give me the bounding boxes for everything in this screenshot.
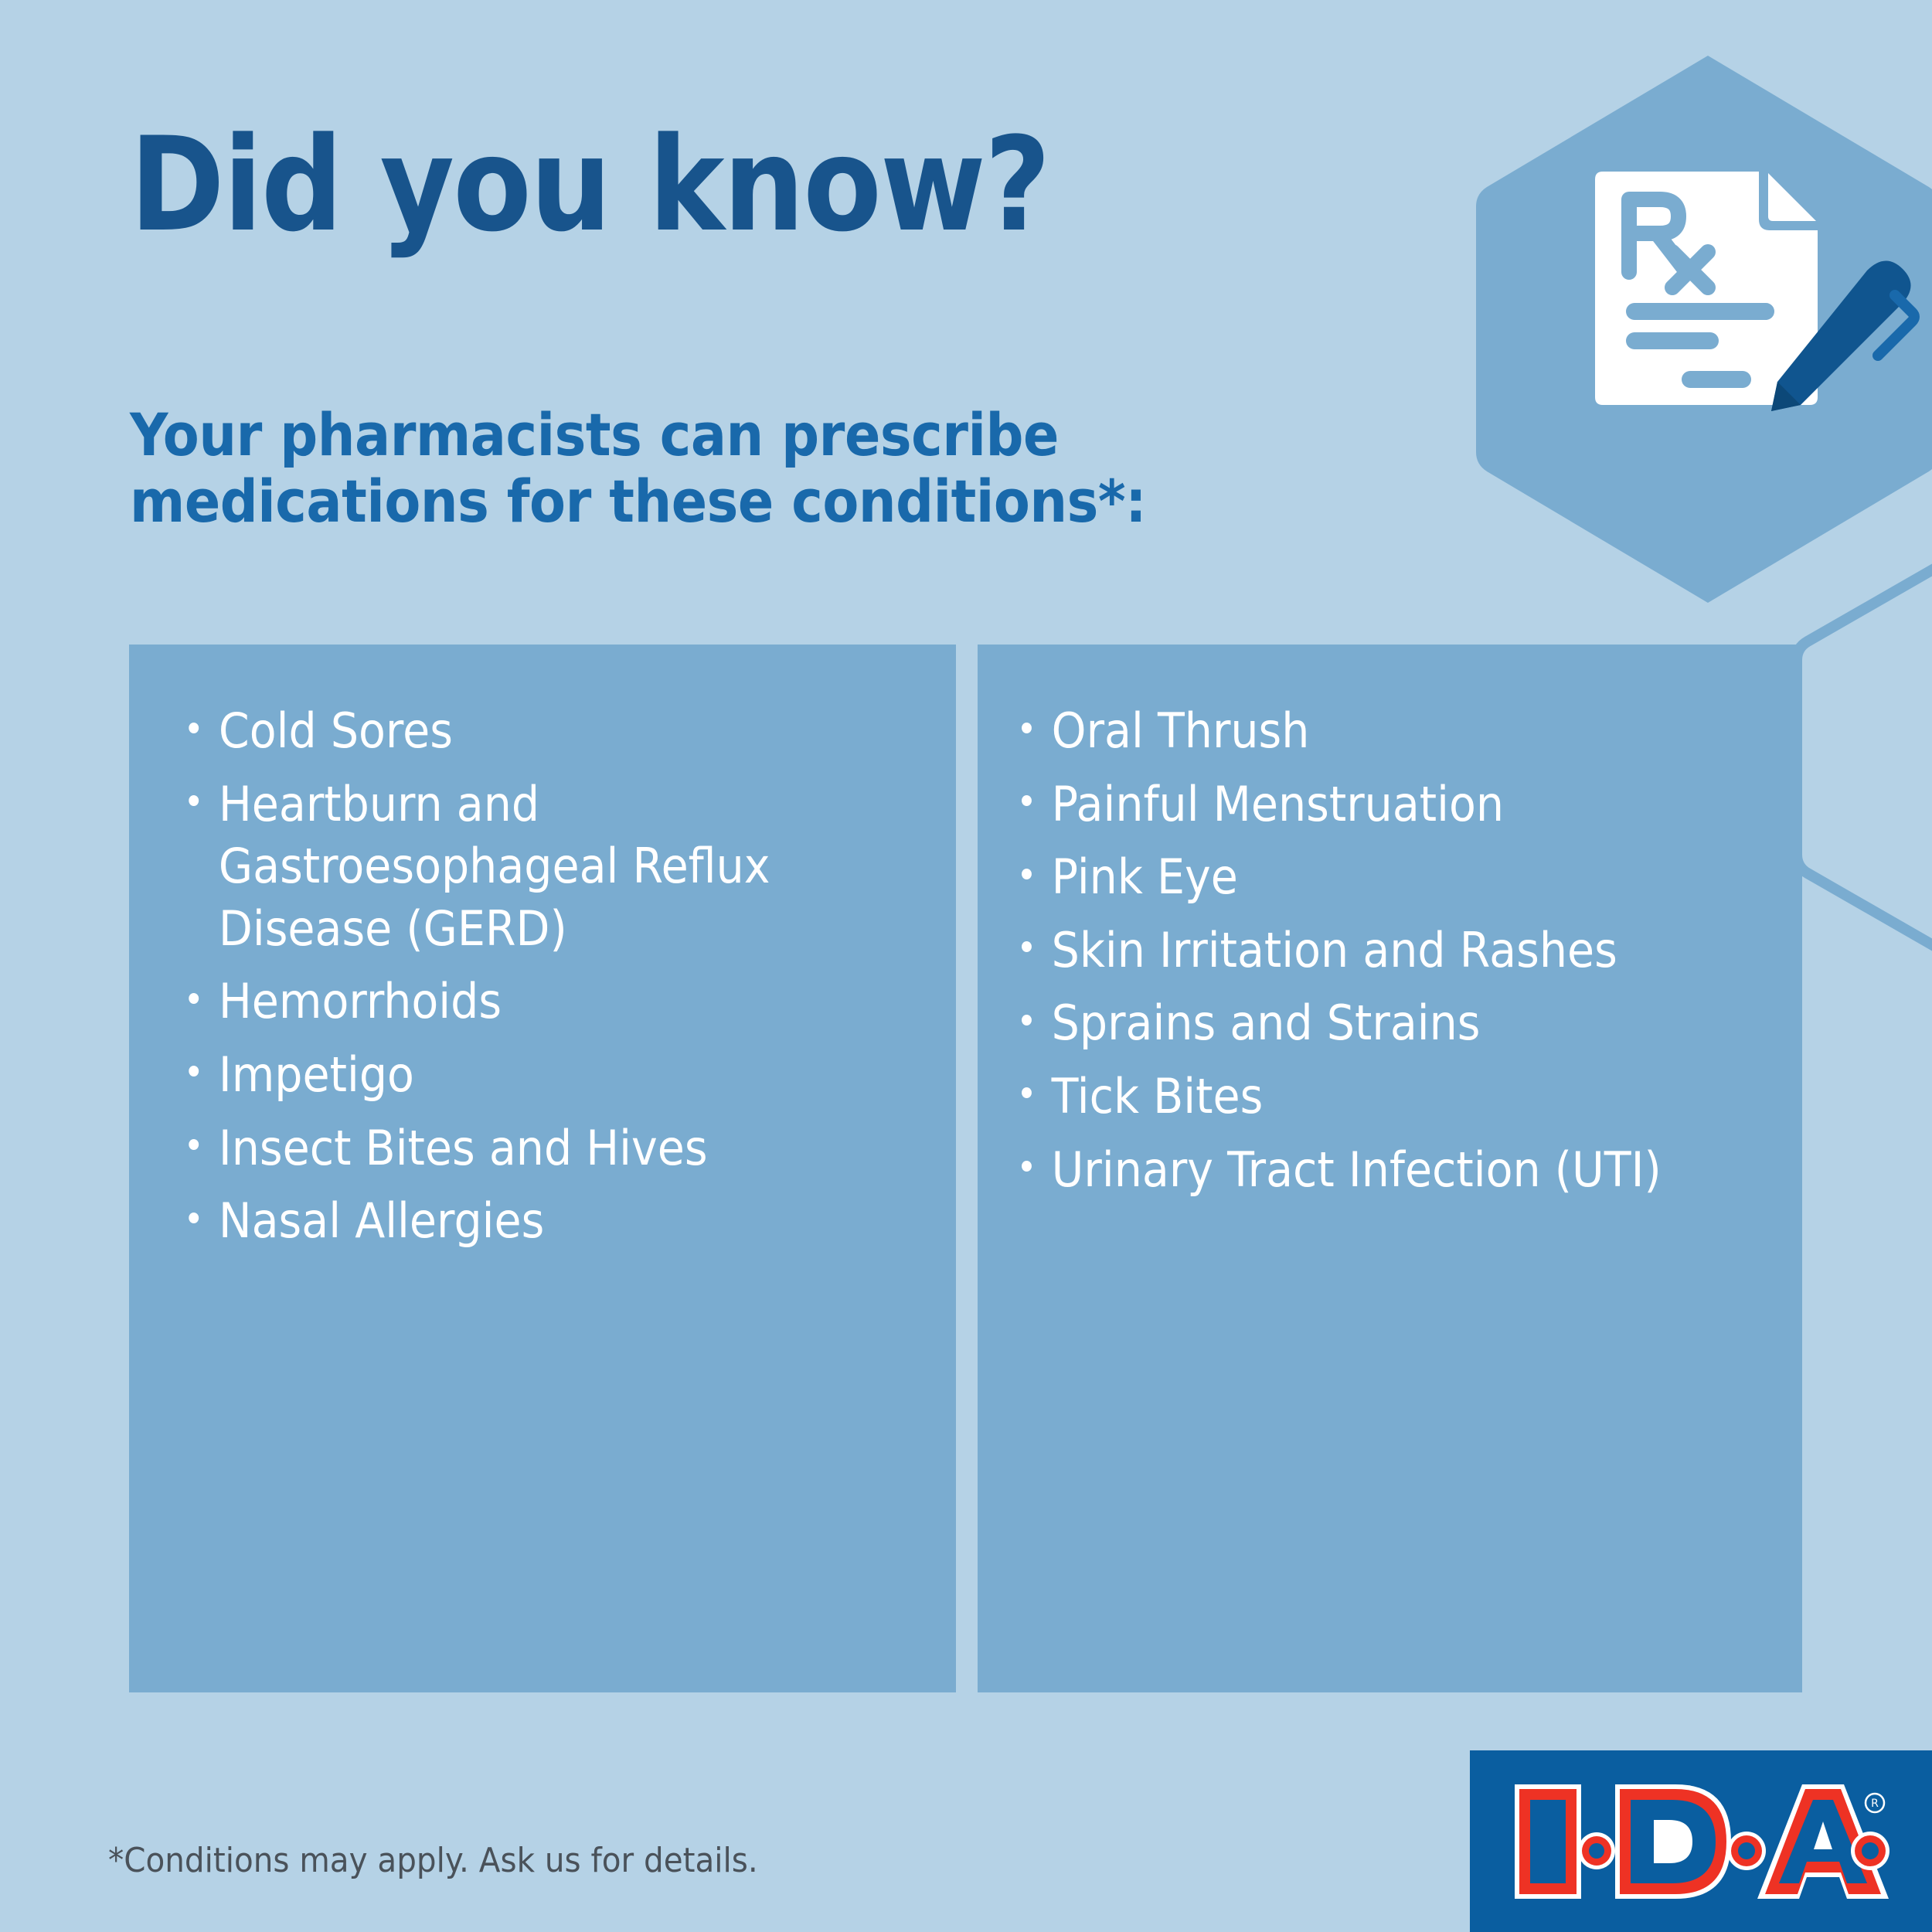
ida-logo-icon: R	[1507, 1780, 1893, 1903]
list-item-label: Urinary Tract Infection (UTI)	[1052, 1141, 1662, 1198]
list-item-label: Insect Bites and Hives	[219, 1120, 708, 1176]
bullet-icon	[1022, 1087, 1032, 1098]
page-subtitle: Your pharmacists can prescribe medicatio…	[130, 402, 1173, 535]
list-item: Heartburn and Gastroesophageal Reflux Di…	[186, 774, 862, 961]
conditions-panel-right: Oral Thrush Painful Menstruation Pink Ey…	[978, 645, 1802, 1692]
list-item-label: Impetigo	[219, 1046, 414, 1103]
list-item: Tick Bites	[1019, 1066, 1707, 1128]
bullet-icon	[189, 1139, 199, 1150]
list-item-label: Tick Bites	[1052, 1068, 1264, 1124]
footnote-text: *Conditions may apply. Ask us for detail…	[108, 1841, 758, 1880]
page-title: Did you know?	[130, 120, 1049, 250]
bullet-icon	[1022, 941, 1032, 952]
list-item: Pink Eye	[1019, 846, 1707, 909]
list-item: Oral Thrush	[1019, 700, 1707, 763]
list-item-label: Sprains and Strains	[1052, 995, 1481, 1051]
list-item: Sprains and Strains	[1019, 992, 1707, 1055]
list-item-label: Oral Thrush	[1052, 702, 1310, 759]
list-item: Urinary Tract Infection (UTI)	[1019, 1139, 1707, 1202]
list-item: Impetigo	[186, 1044, 862, 1107]
list-item-label: Heartburn and Gastroesophageal Reflux Di…	[219, 776, 770, 957]
poster-canvas: Did you know? Your pharmacists can presc…	[0, 0, 1932, 1932]
list-item-label: Painful Menstruation	[1052, 776, 1504, 832]
conditions-list-left: Cold Sores Heartburn and Gastroesophagea…	[129, 645, 889, 1253]
list-item: Painful Menstruation	[1019, 774, 1707, 836]
conditions-list-right: Oral Thrush Painful Menstruation Pink Ey…	[978, 645, 1736, 1201]
bullet-icon	[1022, 795, 1032, 806]
bullet-icon	[1022, 723, 1032, 733]
bullet-icon	[189, 1213, 199, 1223]
bullet-icon	[189, 795, 199, 806]
prescription-document-icon	[1595, 172, 1818, 405]
list-item-label: Nasal Allergies	[219, 1192, 544, 1249]
hexagon-outline-icon	[1781, 533, 1932, 981]
list-item: Cold Sores	[186, 700, 862, 763]
list-item: Nasal Allergies	[186, 1190, 862, 1253]
hexagon-filled-icon	[1465, 48, 1932, 611]
registered-trademark-icon: R	[1866, 1794, 1884, 1812]
list-item: Skin Irritation and Rashes	[1019, 920, 1707, 982]
list-item: Hemorrhoids	[186, 971, 862, 1033]
ida-logo-block: R	[1470, 1750, 1932, 1932]
list-item-label: Pink Eye	[1052, 849, 1238, 905]
subtitle-line-2: medications for these conditions*:	[130, 468, 1173, 535]
bullet-icon	[189, 723, 199, 733]
bullet-icon	[1022, 1015, 1032, 1026]
bullet-icon	[189, 993, 199, 1004]
bullet-icon	[189, 1066, 199, 1077]
subtitle-line-1: Your pharmacists can prescribe	[130, 402, 1173, 468]
list-item: Insect Bites and Hives	[186, 1117, 862, 1180]
svg-text:R: R	[1871, 1798, 1879, 1810]
bullet-icon	[1022, 869, 1032, 879]
bullet-icon	[1022, 1161, 1032, 1172]
list-item-label: Cold Sores	[219, 702, 453, 759]
conditions-panel-left: Cold Sores Heartburn and Gastroesophagea…	[129, 645, 956, 1692]
list-item-label: Skin Irritation and Rashes	[1052, 922, 1617, 978]
list-item-label: Hemorrhoids	[219, 973, 502, 1029]
